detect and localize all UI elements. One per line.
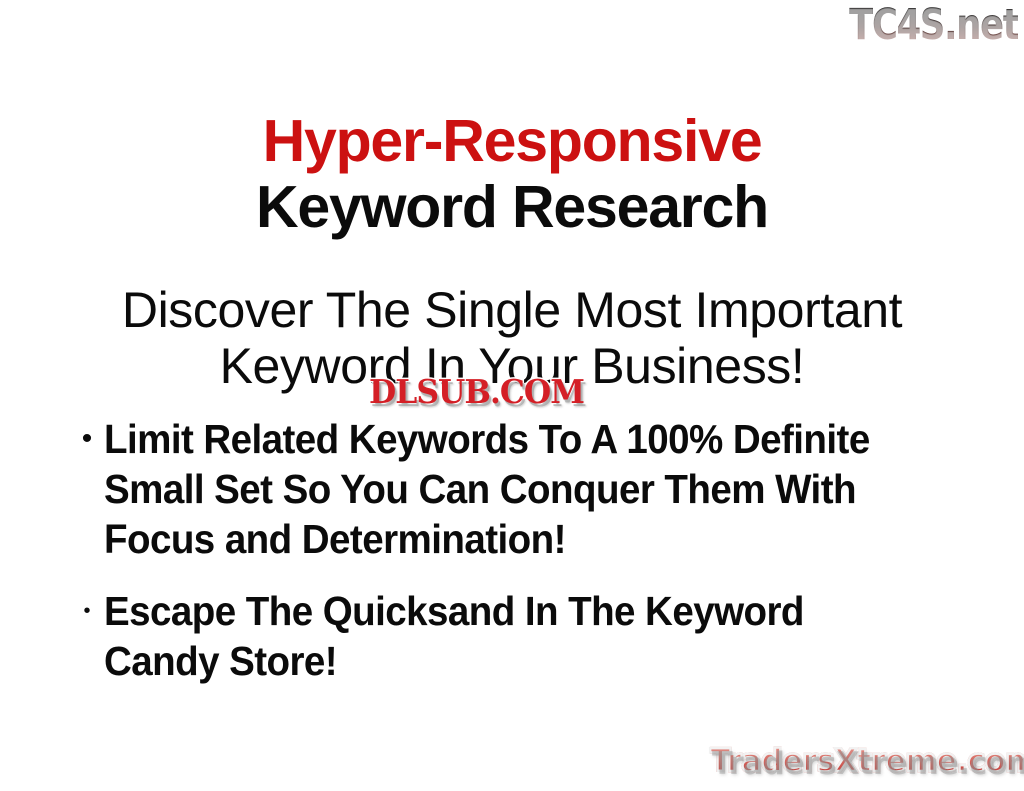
slide-canvas: TC4S.net Hyper-Responsive Keyword Resear… <box>0 0 1024 791</box>
bullet-list: • Limit Related Keywords To A 100% Defin… <box>70 414 950 686</box>
bullet-dot-icon: • <box>70 586 104 636</box>
list-item-label: Escape The Quicksand In The Keyword Cand… <box>104 586 899 686</box>
brand-watermark-tc4s: TC4S.net <box>849 2 1018 48</box>
list-item: • Escape The Quicksand In The Keyword Ca… <box>70 586 950 686</box>
title-line-secondary: Keyword Research <box>0 174 1024 240</box>
brand-watermark-tradersxtreme: TradersXtreme.com <box>710 743 1024 779</box>
list-item-label: Limit Related Keywords To A 100% Definit… <box>104 414 899 564</box>
bullet-dot-icon: • <box>70 414 104 464</box>
title-line-primary: Hyper-Responsive <box>0 108 1024 174</box>
subtitle-line-1: Discover The Single Most Important <box>0 282 1024 338</box>
page-title: Hyper-Responsive Keyword Research <box>0 108 1024 240</box>
list-item: • Limit Related Keywords To A 100% Defin… <box>70 414 950 564</box>
brand-watermark-dlsub: DLSUB.COM <box>369 374 584 410</box>
